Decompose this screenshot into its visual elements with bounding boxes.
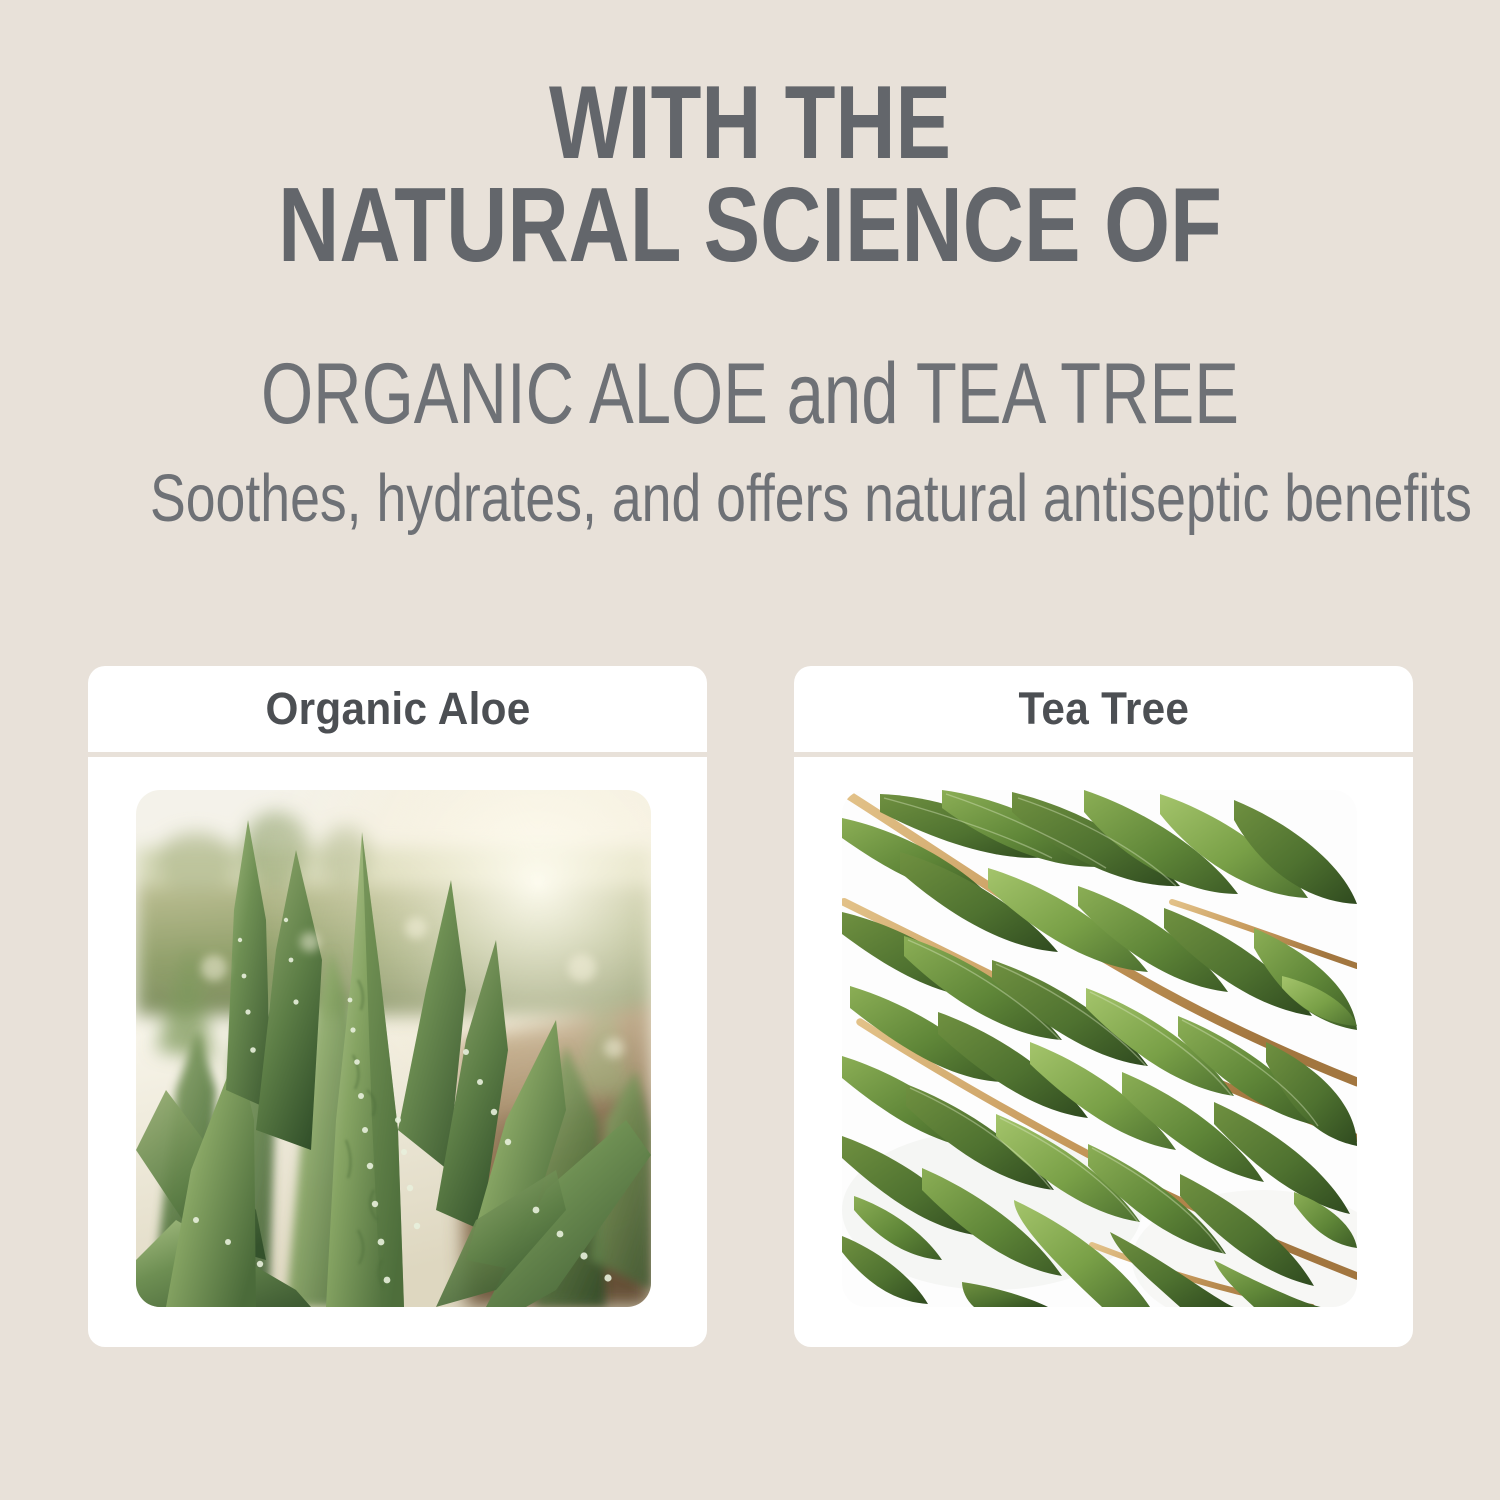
tea-tree-photo-svg: [842, 790, 1357, 1307]
card-body-tea-tree: [794, 757, 1413, 1347]
page-title: WITH THE NATURAL SCIENCE OF: [150, 72, 1350, 276]
card-title-organic-aloe: Organic Aloe: [265, 685, 530, 733]
subheading: ORGANIC ALOE and TEA TREE: [165, 348, 1335, 440]
headline-line-1: WITH THE: [150, 72, 1350, 174]
card-header-organic-aloe: Organic Aloe: [88, 666, 707, 752]
tagline: Soothes, hydrates, and offers natural an…: [150, 462, 1350, 536]
ingredient-cards: Organic Aloe: [0, 666, 1500, 1356]
card-title-tea-tree: Tea Tree: [1018, 685, 1189, 733]
aloe-photo-svg: [136, 790, 651, 1307]
aloe-vera-field-photo: [136, 790, 651, 1307]
ingredient-card-tea-tree: Tea Tree: [794, 666, 1413, 1347]
tea-tree-branch-photo: [842, 790, 1357, 1307]
headline-line-2: NATURAL SCIENCE OF: [150, 174, 1350, 276]
ingredient-card-organic-aloe: Organic Aloe: [88, 666, 707, 1347]
card-body-organic-aloe: [88, 757, 707, 1347]
card-header-tea-tree: Tea Tree: [794, 666, 1413, 752]
